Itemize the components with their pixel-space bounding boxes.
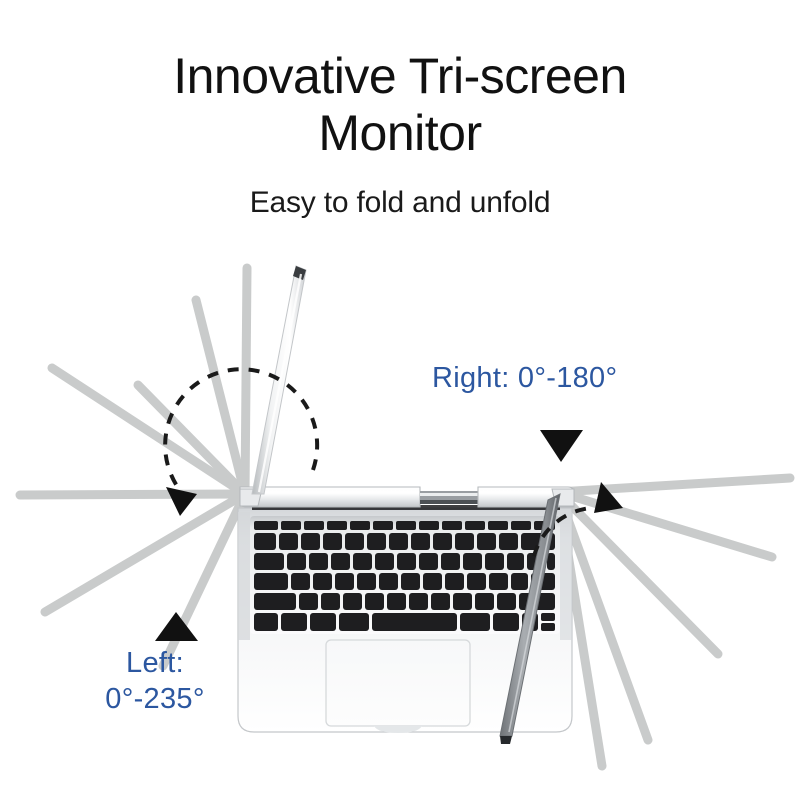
key <box>310 613 336 631</box>
key <box>339 613 369 631</box>
poster-canvas: Innovative Tri-screen Monitor Easy to fo… <box>0 0 800 800</box>
right-callout-triangle-icon <box>540 430 583 462</box>
key <box>511 521 531 530</box>
key <box>475 593 494 610</box>
laptop-right-bevel <box>560 512 572 640</box>
key <box>497 593 516 610</box>
key <box>254 553 284 570</box>
fan-line-left-180 <box>20 494 245 495</box>
key <box>433 533 452 550</box>
right-screen-panel-tip <box>500 736 512 744</box>
key <box>401 573 420 590</box>
key <box>281 521 301 530</box>
key <box>477 533 496 550</box>
key <box>345 533 364 550</box>
key <box>254 613 278 631</box>
left-fan-lines <box>20 268 247 666</box>
key <box>455 533 474 550</box>
left-range-label: Left: 0°-235° <box>60 646 250 718</box>
key <box>353 553 372 570</box>
key <box>507 553 524 570</box>
key <box>254 533 276 550</box>
key <box>304 521 324 530</box>
key <box>485 553 504 570</box>
key <box>254 521 278 530</box>
key <box>387 593 406 610</box>
key <box>397 553 416 570</box>
key <box>511 573 528 590</box>
key <box>323 533 342 550</box>
key <box>499 533 518 550</box>
key <box>365 593 384 610</box>
key <box>309 553 328 570</box>
key <box>279 533 298 550</box>
key <box>254 593 296 610</box>
key <box>493 613 519 631</box>
trackpad <box>326 640 470 733</box>
key <box>281 613 307 631</box>
hinge-connector-highlight <box>420 493 478 496</box>
key-spacebar <box>372 613 457 631</box>
key <box>431 593 450 610</box>
fan-line-left-90 <box>245 268 247 494</box>
laptop-left-bevel <box>238 512 250 640</box>
key <box>488 521 508 530</box>
key <box>389 533 408 550</box>
key <box>463 553 482 570</box>
key <box>321 593 340 610</box>
key-row-modifiers <box>254 613 555 631</box>
key <box>419 521 439 530</box>
hinge-bar <box>240 487 574 507</box>
key <box>291 573 310 590</box>
page-title: Innovative Tri-screen Monitor <box>0 48 800 162</box>
right-range-label: Right: 0°-180° <box>432 362 617 395</box>
key <box>419 553 438 570</box>
key-row-tab <box>254 553 555 570</box>
hinge-segment-left <box>240 487 420 507</box>
page-subtitle: Easy to fold and unfold <box>0 186 800 220</box>
key <box>367 533 386 550</box>
right-fan-lines <box>558 478 790 766</box>
key-row-shift <box>254 593 555 610</box>
key <box>254 573 288 590</box>
key <box>409 593 428 610</box>
key <box>489 573 508 590</box>
key-arrow-up <box>541 613 555 621</box>
key-arrow-down <box>541 623 555 631</box>
key <box>313 573 332 590</box>
key <box>445 573 464 590</box>
key <box>301 533 320 550</box>
left-screen-panel-body <box>252 266 306 494</box>
key <box>287 553 306 570</box>
key <box>453 593 472 610</box>
fan-line-right-0 <box>558 478 790 492</box>
key <box>357 573 376 590</box>
key <box>467 573 486 590</box>
key <box>343 593 362 610</box>
key <box>299 593 318 610</box>
key <box>373 521 393 530</box>
key <box>327 521 347 530</box>
key <box>465 521 485 530</box>
key <box>375 553 394 570</box>
key <box>411 533 430 550</box>
key <box>442 521 462 530</box>
hinge-connector-shadow <box>420 500 478 504</box>
trackpad-surface <box>326 640 470 726</box>
key <box>350 521 370 530</box>
left-screen-panel-highlight <box>259 274 301 492</box>
key <box>379 573 398 590</box>
key <box>331 553 350 570</box>
left-screen-panel <box>252 266 306 494</box>
key <box>423 573 442 590</box>
key <box>441 553 460 570</box>
key <box>335 573 354 590</box>
key <box>396 521 416 530</box>
key <box>460 613 490 631</box>
